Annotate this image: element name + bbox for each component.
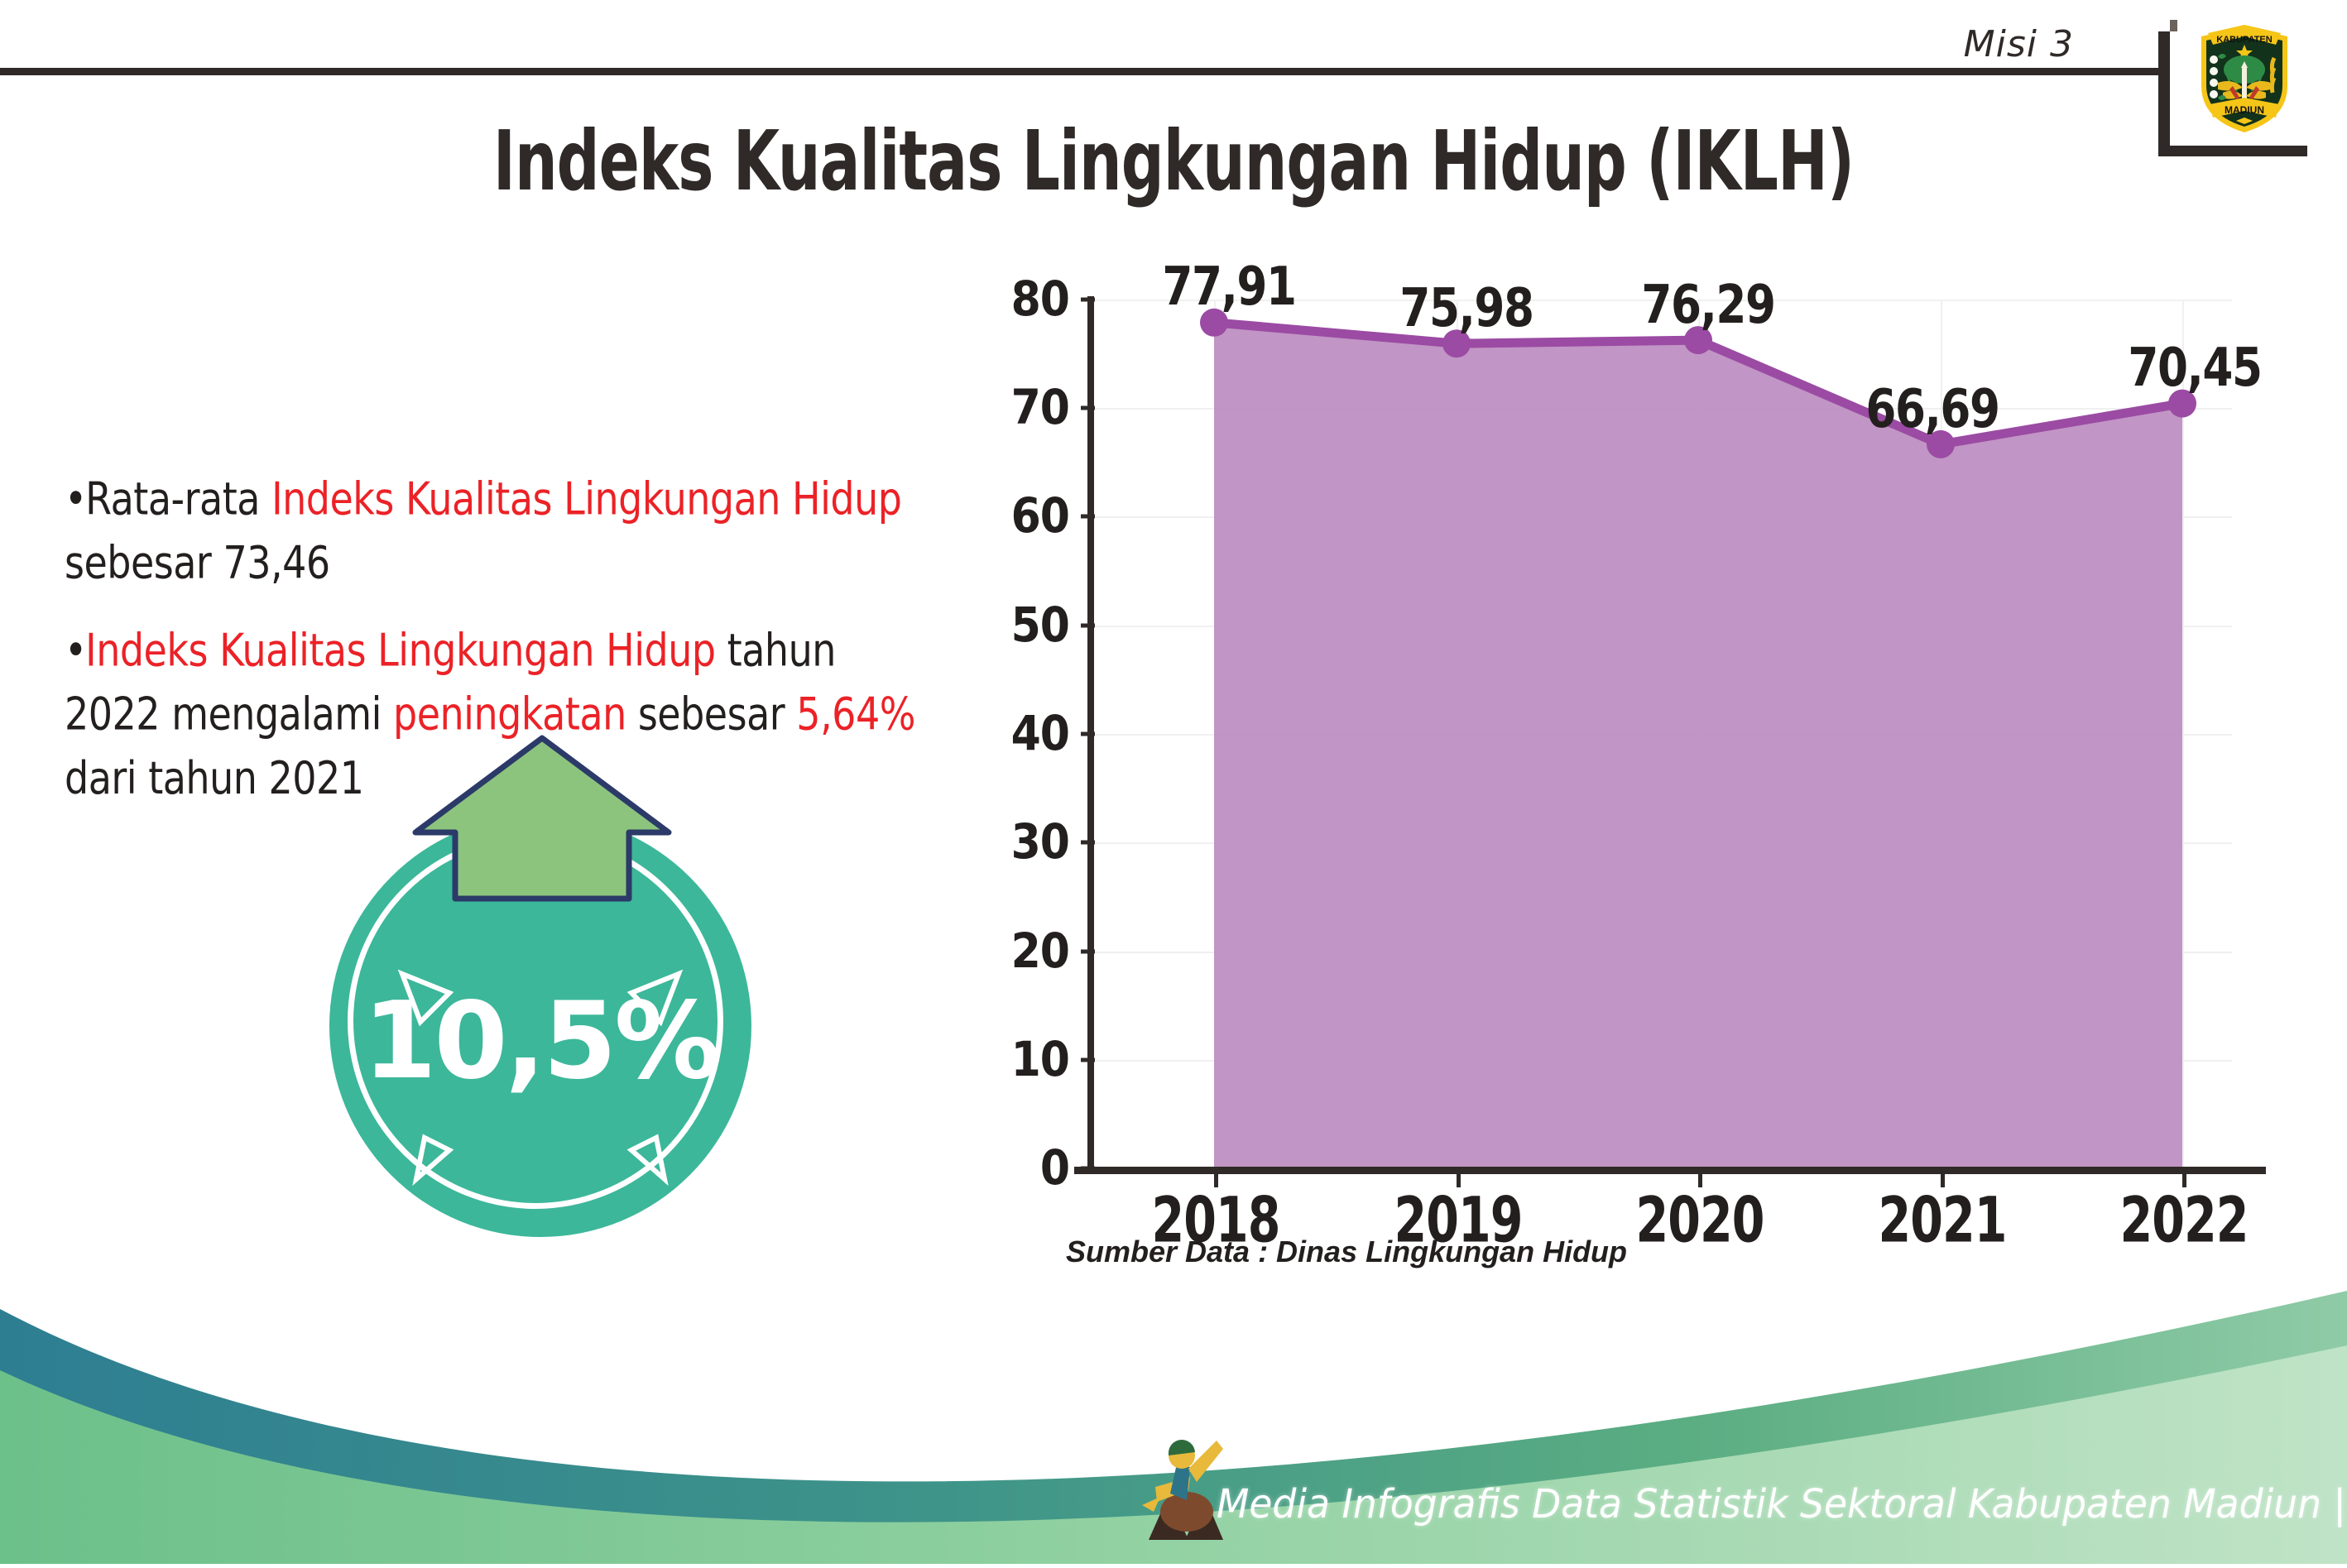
ytick-mark-60 bbox=[1081, 515, 1095, 519]
xtick-label-2020: 2020 bbox=[1635, 1183, 1764, 1257]
header-divider-rule bbox=[0, 68, 2168, 75]
ytick-mark-0 bbox=[1081, 1167, 1095, 1171]
bullet-text-highlight: 5,64% bbox=[796, 688, 915, 741]
page-title: Indeks Kualitas Lingkungan Hidup (IKLH) bbox=[82, 114, 2264, 209]
list-item: •Rata-rata Indeks Kualitas Lingkungan Hi… bbox=[65, 468, 934, 595]
ytick-mark-50 bbox=[1081, 624, 1095, 628]
bullet-marker: • bbox=[65, 624, 85, 677]
misi-label: Misi 3 bbox=[1964, 23, 2074, 65]
bullet-text-highlight: peningkatan bbox=[393, 688, 626, 741]
ytick-mark-40 bbox=[1081, 732, 1095, 736]
iklh-series bbox=[1086, 300, 2232, 1168]
ytick-label-30: 30 bbox=[1011, 814, 1069, 870]
ytick-label-80: 80 bbox=[1011, 271, 1069, 327]
chart-plot-area bbox=[1086, 300, 2232, 1168]
emblem-bracket-accent bbox=[2170, 20, 2177, 31]
ytick-label-40: 40 bbox=[1011, 706, 1069, 761]
data-label-2019: 75,98 bbox=[1399, 277, 1533, 339]
iklh-area-chart: 80 70 60 50 40 30 20 10 0 2018 2019 2020… bbox=[977, 273, 2268, 1200]
xtick-label-2021: 2021 bbox=[1878, 1183, 2006, 1257]
bullet-text-part: sebesar bbox=[626, 688, 797, 741]
footer-caption: Media Infografis Data Statistik Sektoral… bbox=[1217, 1481, 2346, 1527]
ytick-label-70: 70 bbox=[1011, 380, 1069, 435]
area-fill bbox=[1214, 323, 2182, 1168]
ytick-label-10: 10 bbox=[1011, 1032, 1069, 1087]
bullet-text-highlight: Indeks Kualitas Lingkungan Hidup bbox=[271, 472, 901, 525]
bullet-text-part: Rata-rata bbox=[85, 472, 271, 525]
chart-source-caption: Sumber Data : Dinas Lingkungan Hidup bbox=[1066, 1235, 1627, 1269]
ytick-mark-20 bbox=[1081, 950, 1095, 954]
ytick-mark-80 bbox=[1081, 298, 1095, 302]
increase-badge: 10,5% bbox=[329, 815, 751, 1237]
bullet-text-highlight: Indeks Kualitas Lingkungan Hidup bbox=[85, 624, 715, 677]
ytick-label-0: 0 bbox=[1040, 1140, 1069, 1196]
ytick-mark-10 bbox=[1081, 1058, 1095, 1062]
svg-text:KABUPATEN: KABUPATEN bbox=[2216, 35, 2272, 45]
bullet-marker: • bbox=[65, 472, 85, 525]
ytick-label-60: 60 bbox=[1011, 488, 1069, 544]
data-label-2018: 77,91 bbox=[1162, 256, 1295, 318]
data-label-2022: 70,45 bbox=[2128, 337, 2261, 399]
data-label-2020: 76,29 bbox=[1641, 274, 1774, 336]
bullet-text-part: sebesar 73,46 bbox=[65, 536, 330, 589]
xtick-label-2022: 2022 bbox=[2119, 1183, 2248, 1257]
ytick-label-50: 50 bbox=[1011, 597, 1069, 653]
ytick-mark-30 bbox=[1081, 841, 1095, 845]
bullet-text-part: dari tahun 2021 bbox=[65, 751, 364, 804]
badge-value: 10,5% bbox=[329, 815, 751, 1237]
ytick-label-20: 20 bbox=[1011, 923, 1069, 979]
x-axis-line bbox=[1074, 1167, 2266, 1174]
data-label-2021: 66,69 bbox=[1865, 378, 1999, 440]
ytick-mark-70 bbox=[1081, 406, 1095, 410]
